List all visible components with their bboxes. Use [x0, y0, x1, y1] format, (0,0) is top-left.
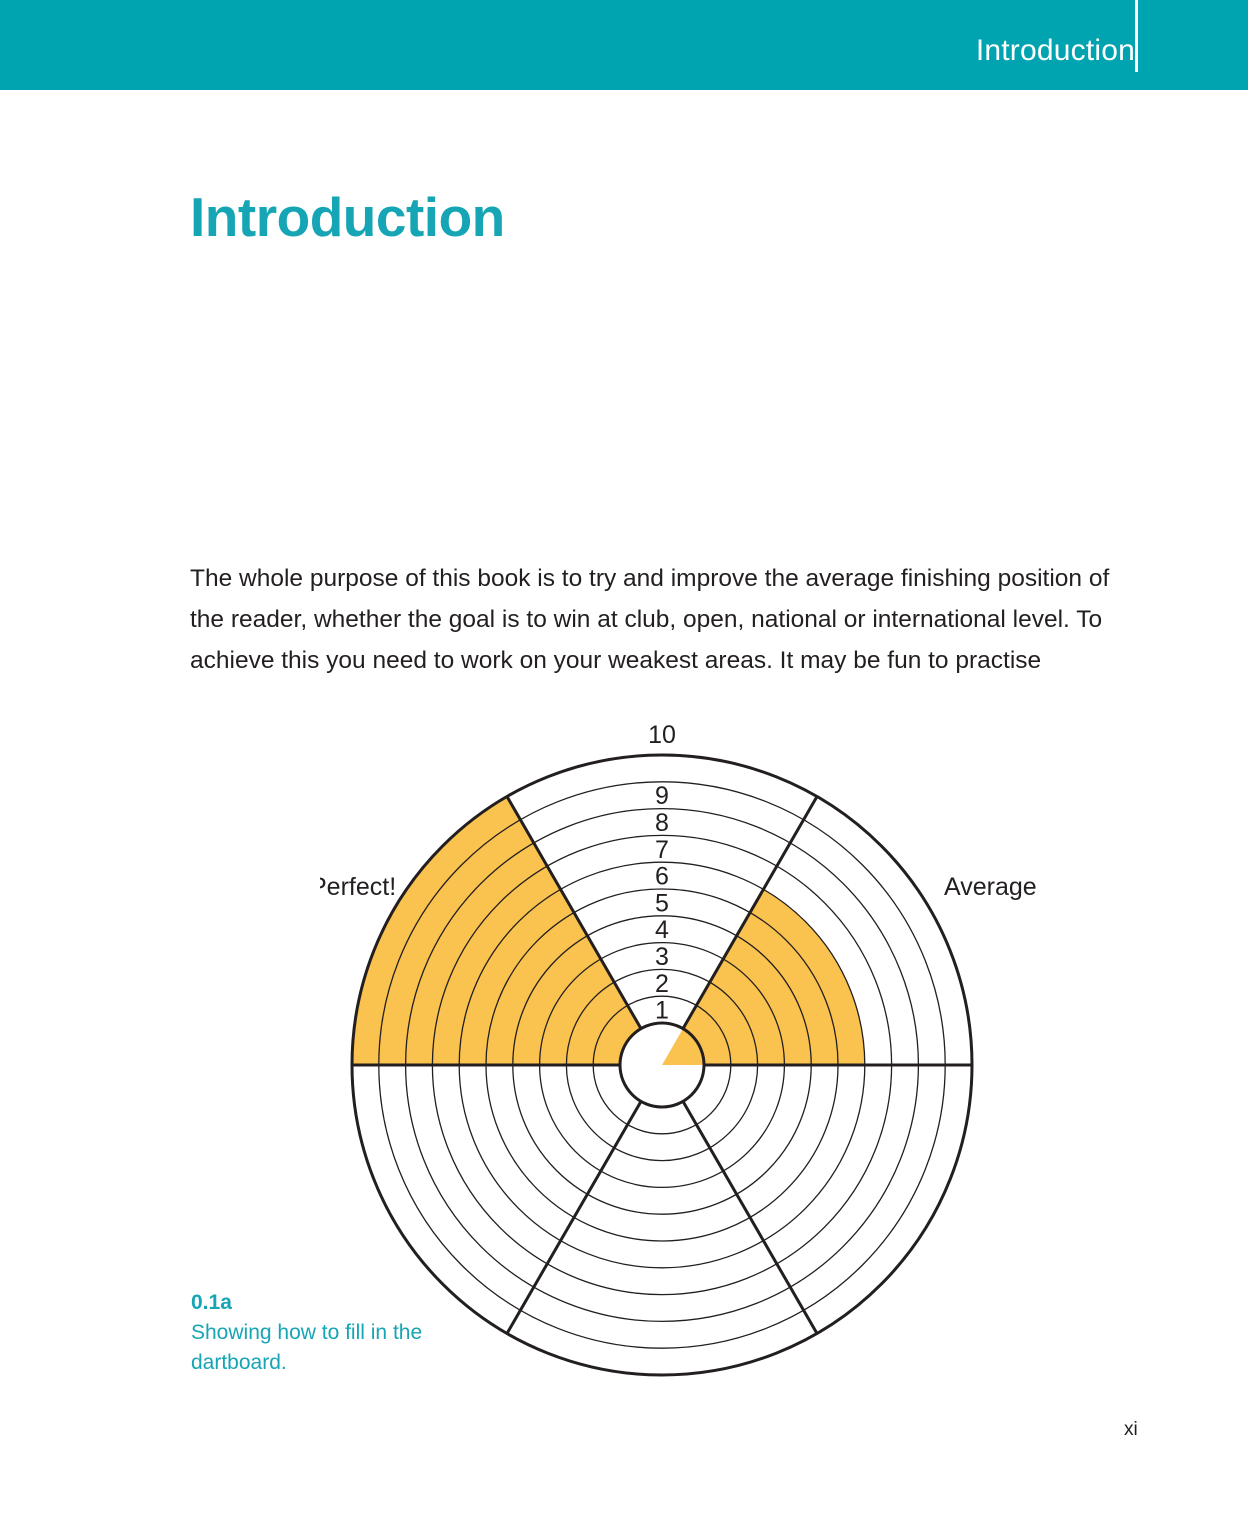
dartboard-scale-label-2: 2	[655, 970, 669, 998]
sector-label-perfect: Perfect!	[320, 873, 396, 901]
dartboard-spoke-5	[507, 1101, 641, 1333]
dartboard-scale-label-6: 6	[655, 863, 669, 891]
dartboard-scale-label-9: 9	[655, 782, 669, 810]
body-paragraph-block: The whole purpose of this book is to try…	[190, 558, 1135, 681]
dartboard-scale-label-7: 7	[655, 836, 669, 864]
running-header-title: Introduction	[976, 36, 1135, 66]
dartboard-filled-sectors	[352, 797, 865, 1065]
dartboard-filled-sector-1[interactable]	[683, 889, 865, 1065]
dartboard-bullseye	[620, 1023, 704, 1107]
dartboard-scale-labels: 12345678910	[648, 721, 676, 1025]
dartboard-scale-label-3: 3	[655, 943, 669, 971]
figure-caption-number: 0.1a	[191, 1288, 431, 1318]
dartboard-scale-label-5: 5	[655, 889, 669, 917]
page-number: xi	[1124, 1420, 1138, 1439]
dartboard-scale-label-4: 4	[655, 916, 669, 944]
dartboard-scale-label-8: 8	[655, 809, 669, 837]
dartboard-spoke-6	[683, 1101, 817, 1333]
dartboard-scale-label-10: 10	[648, 721, 676, 749]
body-paragraph: The whole purpose of this book is to try…	[190, 558, 1135, 681]
dartboard-figure: 12345678910 Perfect! Average	[320, 715, 1080, 1415]
figure-caption-text: Showing how to fill in the dartboard.	[191, 1318, 431, 1378]
dartboard-scale-label-1: 1	[655, 997, 669, 1025]
header-divider-rule	[1135, 0, 1138, 72]
running-header: Introduction	[0, 0, 1248, 90]
page-title: Introduction	[190, 190, 505, 245]
sector-label-average: Average	[944, 873, 1037, 901]
figure-caption: 0.1a Showing how to fill in the dartboar…	[191, 1288, 431, 1378]
